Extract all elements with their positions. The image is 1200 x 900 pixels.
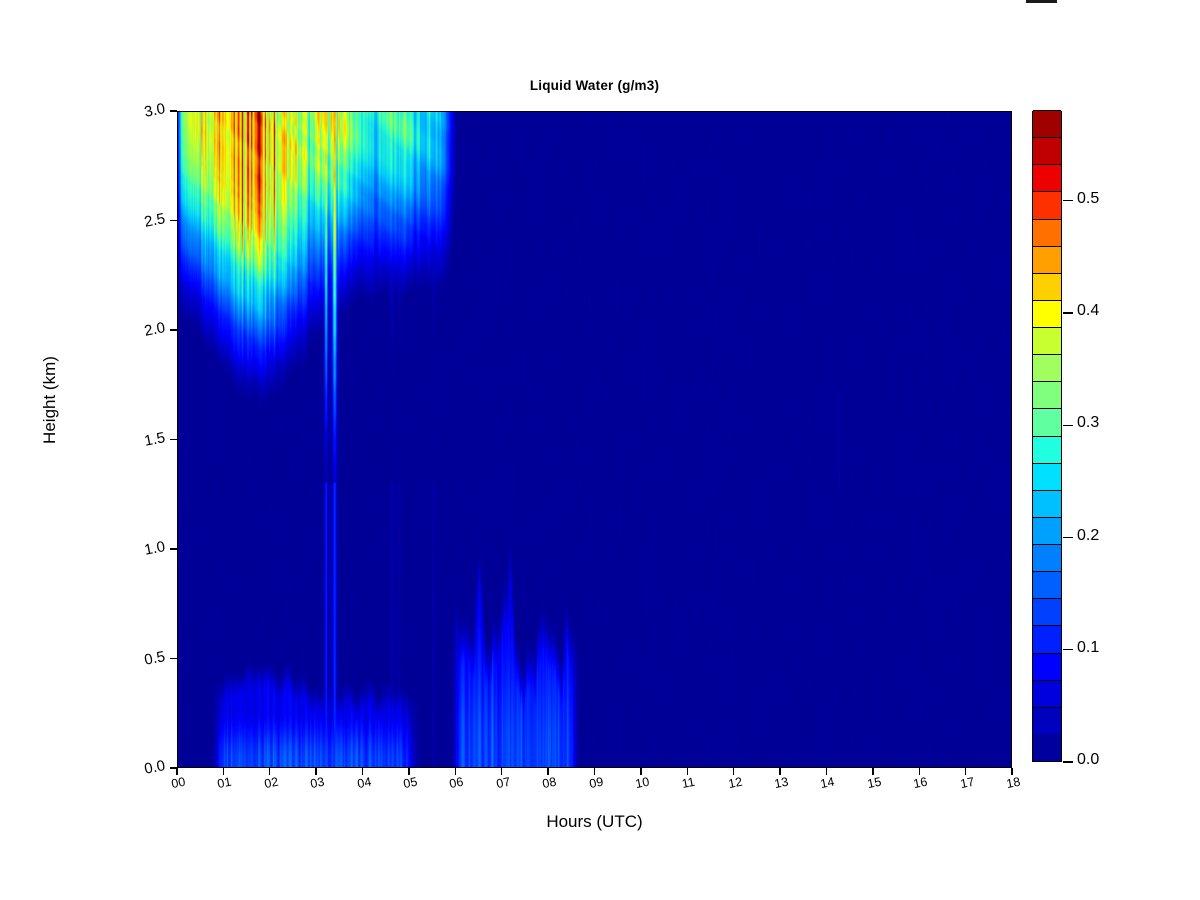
y-axis-title: Height (km): [40, 320, 60, 480]
x-tick-01: [223, 768, 224, 775]
colorbar-cell: [1033, 219, 1061, 246]
y-tick-1.0: [170, 548, 177, 549]
clipped-top-artifact: [1026, 0, 1057, 3]
colorbar-cell: [1033, 571, 1061, 598]
x-axis-title: Hours (UTC): [177, 812, 1012, 832]
y-tick-3.0: [170, 110, 177, 111]
x-tick-03: [315, 768, 316, 775]
colorbar-cell: [1033, 734, 1061, 761]
colorbar-tick-0.3: [1063, 425, 1073, 426]
colorbar-cell: [1033, 408, 1061, 435]
colorbar-cell: [1033, 653, 1061, 680]
colorbar-cell: [1033, 517, 1061, 544]
x-tick-17: [965, 768, 966, 775]
colorbar-cell: [1033, 436, 1061, 463]
x-tick-05: [408, 768, 409, 775]
x-tick-08: [547, 768, 548, 775]
x-tick-16: [919, 768, 920, 775]
colorbar-label-0.0: 0.0: [1077, 751, 1099, 769]
liquid-water-heatmap: [178, 112, 1011, 767]
y-tick-0.0: [170, 767, 177, 768]
x-tick-label-13: 13: [764, 773, 798, 793]
colorbar-cell: [1033, 300, 1061, 327]
x-tick-label-11: 11: [672, 773, 706, 793]
colorbar-label-0.5: 0.5: [1077, 190, 1099, 208]
colorbar[interactable]: [1032, 111, 1062, 762]
colorbar-cell: [1033, 598, 1061, 625]
x-tick-label-05: 05: [393, 773, 427, 793]
y-tick-2.0: [170, 329, 177, 330]
x-tick-label-15: 15: [857, 773, 891, 793]
colorbar-cell: [1033, 381, 1061, 408]
x-tick-label-03: 03: [300, 773, 334, 793]
page-title: Liquid Water (g/m3): [177, 78, 1012, 93]
y-tick-label-0.0: 0.0: [116, 757, 166, 783]
x-tick-09: [594, 768, 595, 775]
x-tick-11: [687, 768, 688, 775]
figure-canvas: Liquid Water (g/m3) 00010203040506070809…: [0, 0, 1200, 900]
heatmap-plot-area[interactable]: [177, 111, 1012, 768]
x-tick-14: [826, 768, 827, 775]
y-tick-label-2.5: 2.5: [116, 210, 166, 236]
y-tick-label-1.0: 1.0: [116, 538, 166, 564]
colorbar-cell: [1033, 680, 1061, 707]
colorbar-cell: [1033, 707, 1061, 734]
x-tick-18: [1011, 768, 1012, 775]
x-tick-label-16: 16: [904, 773, 938, 793]
colorbar-cell: [1033, 354, 1061, 381]
y-tick-label-2.0: 2.0: [116, 319, 166, 345]
x-tick-label-00: 00: [161, 773, 195, 793]
x-tick-label-01: 01: [208, 773, 242, 793]
colorbar-cell: [1033, 164, 1061, 191]
y-tick-label-0.5: 0.5: [116, 648, 166, 674]
x-tick-label-12: 12: [718, 773, 752, 793]
colorbar-tick-0.2: [1063, 537, 1073, 538]
x-tick-label-08: 08: [532, 773, 566, 793]
colorbar-cell: [1033, 246, 1061, 273]
x-tick-label-06: 06: [440, 773, 474, 793]
x-tick-02: [269, 768, 270, 775]
colorbar-tick-0.0: [1063, 761, 1073, 762]
colorbar-label-0.4: 0.4: [1077, 302, 1099, 320]
colorbar-label-0.1: 0.1: [1077, 639, 1099, 657]
x-tick-label-10: 10: [625, 773, 659, 793]
colorbar-tick-0.5: [1063, 200, 1073, 201]
x-tick-06: [455, 768, 456, 775]
colorbar-cell: [1033, 625, 1061, 652]
colorbar-label-0.3: 0.3: [1077, 414, 1099, 432]
x-tick-label-02: 02: [254, 773, 288, 793]
x-tick-07: [501, 768, 502, 775]
y-tick-label-1.5: 1.5: [116, 429, 166, 455]
colorbar-cell: [1033, 137, 1061, 164]
x-tick-13: [779, 768, 780, 775]
x-tick-12: [733, 768, 734, 775]
colorbar-cell: [1033, 490, 1061, 517]
x-tick-label-14: 14: [811, 773, 845, 793]
colorbar-cell: [1033, 110, 1061, 137]
x-tick-00: [176, 768, 177, 775]
x-tick-label-18: 18: [996, 773, 1030, 793]
x-tick-label-07: 07: [486, 773, 520, 793]
x-tick-label-04: 04: [347, 773, 381, 793]
colorbar-cell: [1033, 327, 1061, 354]
x-tick-15: [872, 768, 873, 775]
colorbar-cell: [1033, 273, 1061, 300]
y-tick-0.5: [170, 658, 177, 659]
colorbar-cell: [1033, 544, 1061, 571]
colorbar-cell: [1033, 191, 1061, 218]
y-tick-2.5: [170, 220, 177, 221]
colorbar-tick-0.1: [1063, 649, 1073, 650]
colorbar-tick-0.4: [1063, 312, 1073, 313]
colorbar-label-0.2: 0.2: [1077, 527, 1099, 545]
x-tick-10: [640, 768, 641, 775]
y-tick-1.5: [170, 439, 177, 440]
x-tick-label-17: 17: [950, 773, 984, 793]
x-tick-label-09: 09: [579, 773, 613, 793]
y-tick-label-3.0: 3.0: [116, 100, 166, 126]
colorbar-cell: [1033, 463, 1061, 490]
x-tick-04: [362, 768, 363, 775]
